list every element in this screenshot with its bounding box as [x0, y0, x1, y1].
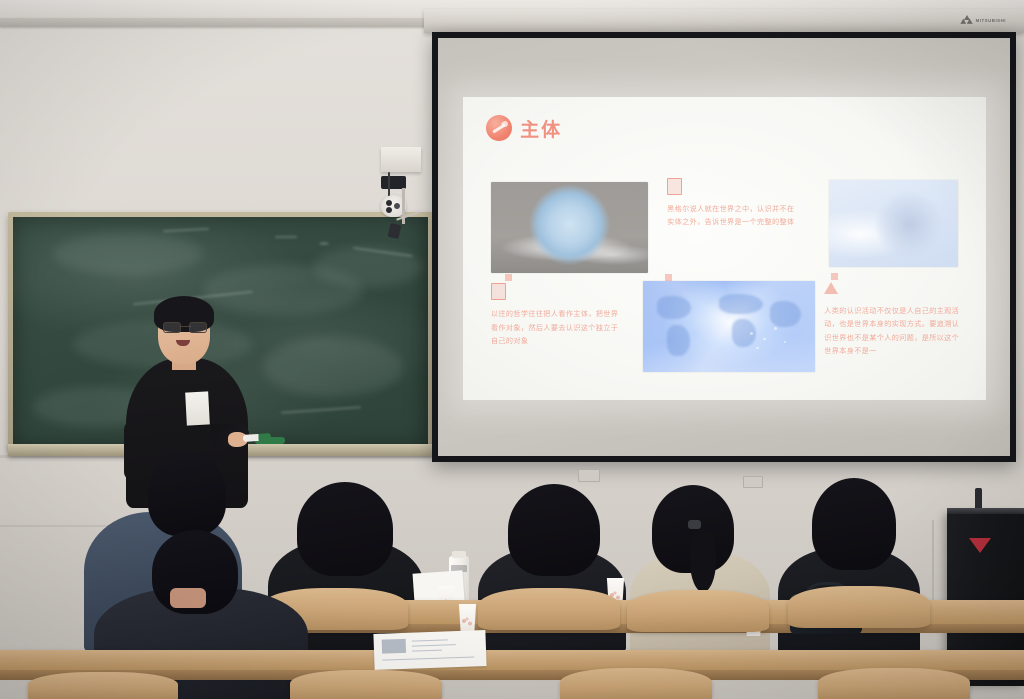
slide-block-bottom-left: 以往的哲学往往把人看作主体，把世界看作对象，然后人要去认识这个独立于自己的对象: [491, 283, 620, 346]
chair-back-front-2[interactable]: [290, 670, 442, 699]
projection-screen-surface: 主体 黑格尔说人就在世界之中，认识并不在实体之外，告诉世界是一个完整的整体: [438, 38, 1010, 456]
presentation-slide: 主体 黑格尔说人就在世界之中，认识并不在实体之外，告诉世界是一个完整的整体: [463, 97, 986, 400]
slide-marker-left: [505, 274, 512, 281]
slide-marker-right: [831, 273, 838, 280]
slide-block-top-center: 黑格尔说人就在世界之中，认识并不在实体之外，告诉世界是一个完整的整体: [667, 178, 800, 228]
mitsubishi-three-diamonds-icon: [962, 15, 973, 25]
chair-back-front-3[interactable]: [560, 668, 712, 699]
ponytail: [690, 530, 716, 592]
wall-box: [381, 147, 421, 172]
image-earth-pale: [829, 180, 958, 267]
chair-back-front-4[interactable]: [818, 668, 970, 699]
slide-title-row: 主体: [486, 115, 562, 142]
printed-document-front: [373, 630, 486, 670]
image-earth-clouds: [491, 182, 648, 273]
chair-back-4[interactable]: [788, 586, 930, 628]
eyeglasses-icon: [163, 322, 207, 331]
slide-marker-center: [665, 274, 672, 281]
projector-screen-housing: MITSUBISHI: [424, 9, 1024, 33]
wall-socket-icon: [578, 469, 600, 482]
slide-content-grid: 黑格尔说人就在世界之中，认识并不在实体之外，告诉世界是一个完整的整体 以往的哲学…: [486, 178, 962, 384]
student-neck: [170, 588, 206, 608]
projection-screen: 主体 黑格尔说人就在世界之中，认识并不在实体之外，告诉世界是一个完整的整体: [432, 32, 1016, 462]
classroom-scene: MITSUBISHI 主体 黑格尔说人就在世界之中，认识并不在实体之外，告诉世界…: [0, 0, 1024, 699]
projector-brand-label: MITSUBISHI: [976, 18, 1006, 23]
wall-seam-secondary: [0, 525, 120, 527]
chair-back-front-1[interactable]: [28, 672, 178, 699]
cabinet-warning-badge-icon: [969, 538, 991, 553]
image-world-map: [643, 281, 814, 372]
hair-clip-icon: [688, 520, 701, 529]
chair-back-2[interactable]: [478, 588, 620, 630]
slide-block-bottom-right: 人类的认识活动不仅仅是人自己的主观活动，也是世界本身的实现方式。要追溯认识世界也…: [824, 281, 960, 356]
adapter-cable: [388, 172, 390, 198]
cabinet-antenna: [975, 488, 982, 510]
presenter-name-tag: [185, 391, 210, 425]
slide-block-bottom-left-text: 以往的哲学往往把人看作主体，把世界看作对象，然后人要去认识这个独立于自己的对象: [491, 307, 620, 346]
mitsubishi-logo: MITSUBISHI: [962, 15, 1006, 25]
wall-socket-secondary-icon: [743, 476, 763, 488]
triangle-icon: [824, 281, 838, 297]
slide-block-bottom-right-text: 人类的认识活动不仅仅是人自己的主观活动，也是世界本身的实现方式。要追溯认识世界也…: [824, 304, 960, 356]
slide-block-top-center-text: 黑格尔说人就在世界之中，认识并不在实体之外，告诉世界是一个完整的整体: [667, 202, 800, 228]
document-icon: [491, 283, 506, 300]
slide-title: 主体: [520, 115, 562, 142]
clipboard-icon: [667, 178, 682, 195]
rocket-circle-icon: [486, 115, 512, 141]
cabinet-cable: [932, 520, 934, 604]
chair-back-3[interactable]: [627, 590, 769, 632]
